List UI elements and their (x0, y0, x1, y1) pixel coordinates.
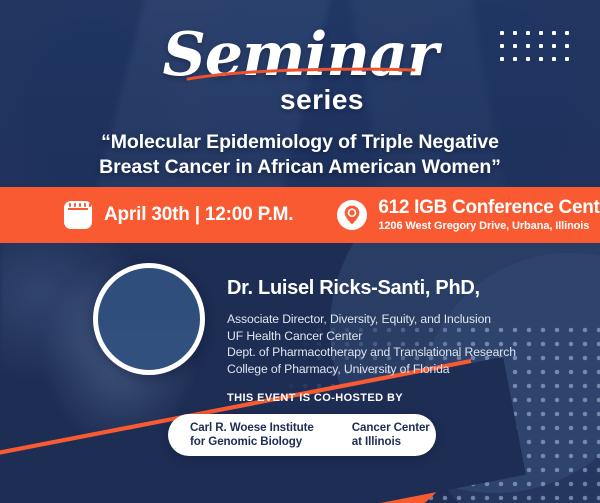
seminar-flyer: Seminar series “Molecular Epidemiology o… (0, 0, 600, 503)
calendar-icon (64, 201, 92, 229)
cohost-label: THIS EVENT IS CO-HOSTED BY (227, 392, 403, 404)
venue-address: 1206 West Gregory Drive, Urbana, Illinoi… (378, 219, 600, 233)
speaker-affiliation: College of Pharmacy, University of Flori… (227, 361, 587, 378)
speaker-affiliation: Associate Director, Diversity, Equity, a… (227, 311, 587, 328)
map-pin-icon (337, 200, 367, 230)
cohost-org-1-line-2: for Genomic Biology (190, 435, 314, 449)
speaker-name: Dr. Luisel Ricks-Santi, PhD, (227, 276, 587, 300)
seminar-script-word: Seminar (0, 24, 600, 86)
date-time-group: April 30th | 12:00 P.M. (64, 201, 293, 229)
cohost-org-2: Cancer Center at Illinois (330, 421, 446, 449)
cohost-pill: Carl R. Woese Institute for Genomic Biol… (168, 414, 436, 456)
venue-name: 612 IGB Conference Center (378, 198, 600, 218)
title-line-2: Breast Cancer in African American Women” (0, 155, 600, 180)
venue-group: 612 IGB Conference Center 1206 West Greg… (378, 198, 600, 233)
speaker-affiliation: UF Health Cancer Center (227, 328, 587, 345)
cohost-org-1-line-1: Carl R. Woese Institute (190, 421, 314, 435)
cohost-org-2-line-2: at Illinois (352, 435, 430, 449)
cohost-org-1: Carl R. Woese Institute for Genomic Biol… (168, 421, 330, 449)
event-details-banner: April 30th | 12:00 P.M. 612 IGB Conferen… (0, 187, 600, 243)
cohost-org-2-line-1: Cancer Center (352, 421, 430, 435)
series-word: series (44, 84, 600, 116)
speaker-portrait (93, 263, 205, 375)
portrait-image (98, 268, 200, 370)
speaker-affiliation: Dept. of Pharmacotherapy and Translation… (227, 344, 587, 361)
speaker-info: Dr. Luisel Ricks-Santi, PhD, Associate D… (227, 276, 587, 377)
seminar-series-lockup: Seminar series (0, 24, 600, 116)
event-date-time: April 30th | 12:00 P.M. (104, 204, 293, 226)
title-line-1: “Molecular Epidemiology of Triple Negati… (0, 130, 600, 155)
page-title: “Molecular Epidemiology of Triple Negati… (0, 130, 600, 180)
location-group: 612 IGB Conference Center 1206 West Greg… (337, 198, 600, 233)
